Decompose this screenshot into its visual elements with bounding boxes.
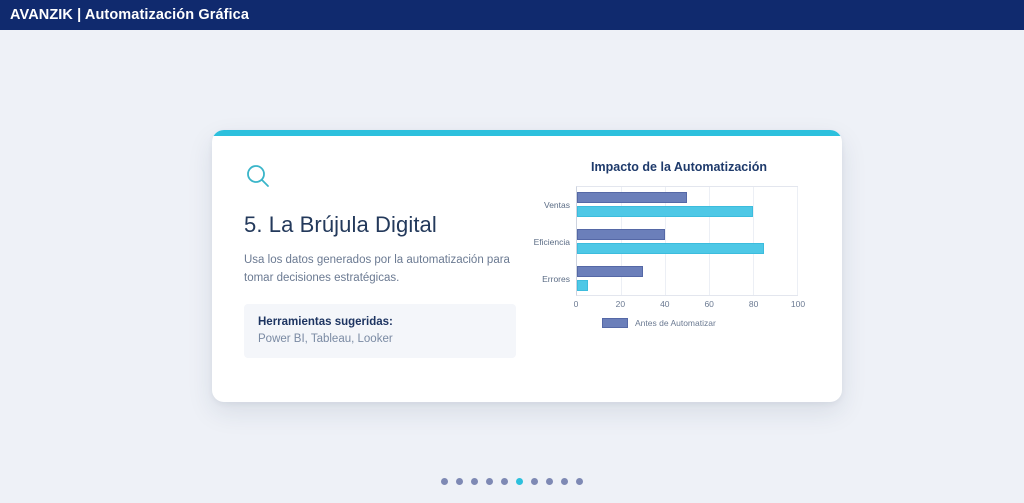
chart-x-tick-label: 80 <box>749 299 758 309</box>
legend-swatch-antes <box>602 318 628 328</box>
suggested-tools-list: Power BI, Tableau, Looker <box>258 333 502 345</box>
legend-label-antes: Antes de Automatizar <box>635 318 716 328</box>
chart-x-tick-label: 100 <box>791 299 805 309</box>
chart-gridline <box>797 187 798 295</box>
chart-category-label: Eficiencia <box>534 237 570 247</box>
chart-category-label: Ventas <box>544 200 570 210</box>
chart-pane: Impacto de la Automatización VentasEfici… <box>524 130 842 402</box>
chart-x-tick-label: 60 <box>704 299 713 309</box>
slide-stage: 5. La Brújula Digital Usa los datos gene… <box>0 30 1024 503</box>
pagination-dot[interactable] <box>501 478 508 485</box>
chart-bar <box>577 280 588 291</box>
chart-category-group: Ventas <box>577 190 797 220</box>
app-brand-title: AVANZIK | Automatización Gráfica <box>10 7 249 23</box>
chart-x-axis: 020406080100 <box>576 296 798 312</box>
slide-card: 5. La Brújula Digital Usa los datos gene… <box>212 130 842 402</box>
chart-bar <box>577 243 764 254</box>
chart-bar <box>577 266 643 277</box>
chart-bar <box>577 192 687 203</box>
slide-pagination[interactable] <box>0 478 1024 485</box>
pagination-dot-active[interactable] <box>516 478 523 485</box>
chart-x-tick-label: 0 <box>574 299 579 309</box>
chart-x-tick-label: 40 <box>660 299 669 309</box>
chart-legend: Antes de Automatizar <box>602 318 842 328</box>
slide-title: 5. La Brújula Digital <box>244 212 524 238</box>
pagination-dot[interactable] <box>531 478 538 485</box>
pagination-dot[interactable] <box>456 478 463 485</box>
chart-bar <box>577 229 665 240</box>
card-text-pane: 5. La Brújula Digital Usa los datos gene… <box>212 130 524 402</box>
search-icon <box>244 162 272 190</box>
chart-title: Impacto de la Automatización <box>516 160 842 174</box>
chart-x-tick-label: 20 <box>616 299 625 309</box>
chart-plot-area: VentasEficienciaErrores <box>576 186 798 296</box>
pagination-dot[interactable] <box>441 478 448 485</box>
suggested-tools-box: Herramientas sugeridas: Power BI, Tablea… <box>244 304 516 358</box>
pagination-dot[interactable] <box>576 478 583 485</box>
pagination-dot[interactable] <box>471 478 478 485</box>
pagination-dot[interactable] <box>561 478 568 485</box>
chart-category-group: Eficiencia <box>577 227 797 257</box>
chart-category-group: Errores <box>577 264 797 294</box>
app-header: AVANZIK | Automatización Gráfica <box>0 0 1024 30</box>
suggested-tools-heading: Herramientas sugeridas: <box>258 316 502 328</box>
pagination-dot[interactable] <box>486 478 493 485</box>
pagination-dot[interactable] <box>546 478 553 485</box>
chart-bar <box>577 206 753 217</box>
chart-category-label: Errores <box>542 274 570 284</box>
slide-description: Usa los datos generados por la automatiz… <box>244 252 512 288</box>
